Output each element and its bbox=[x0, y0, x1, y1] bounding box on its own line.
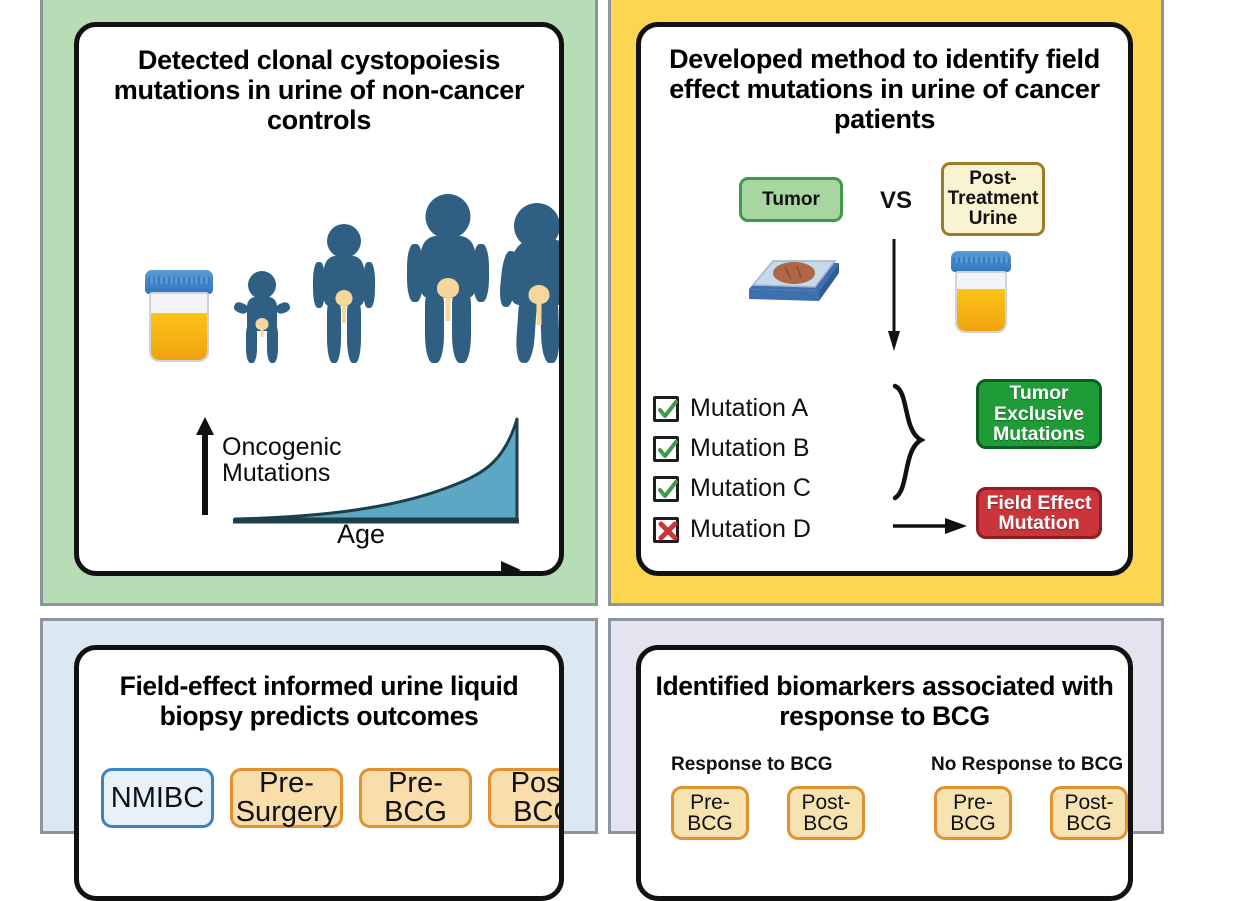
panel-bcg-response-biomarkers: Identified biomarkers associated with re… bbox=[608, 618, 1164, 834]
panel-2-title: Developed method to identify field effec… bbox=[655, 44, 1114, 135]
mutation-row: Mutation A bbox=[653, 394, 808, 423]
checkbox-checked-icon bbox=[653, 476, 679, 502]
panel-3-card: Field-effect informed urine liquid biops… bbox=[74, 645, 564, 901]
x-axis-arrow-icon bbox=[245, 561, 521, 576]
panel-4-title: Identified biomarkers associated with re… bbox=[655, 672, 1114, 731]
checkbox-cross-icon bbox=[653, 517, 679, 543]
chip-pre-surgery[interactable]: Pre-Surgery bbox=[230, 768, 343, 828]
mutation-label: Mutation D bbox=[690, 515, 811, 544]
panel-3-title: Field-effect informed urine liquid biops… bbox=[93, 672, 545, 731]
oncogenic-mutations-vs-age-chart: Oncogenic Mutations Age bbox=[187, 413, 564, 576]
post-treatment-urine-tag: Post-Treatment Urine bbox=[941, 162, 1045, 236]
chip-no-response-post-bcg[interactable]: Post-BCG bbox=[1050, 786, 1128, 840]
panel-2-card: Developed method to identify field effec… bbox=[636, 22, 1133, 576]
arrow-down-icon bbox=[888, 239, 900, 351]
elderly-figure-with-cane-icon bbox=[497, 203, 564, 363]
chip-no-response-pre-bcg[interactable]: Pre-BCG bbox=[934, 786, 1012, 840]
timepoint-chip-row: NMIBC Pre-Surgery Pre-BCG Post-BCG bbox=[101, 768, 564, 828]
panel-4-card: Identified biomarkers associated with re… bbox=[636, 645, 1133, 901]
arrow-right-icon bbox=[893, 517, 967, 535]
mutation-row: Mutation B bbox=[653, 434, 810, 463]
urine-cup-icon bbox=[951, 251, 1011, 333]
mutation-label: Mutation A bbox=[690, 394, 808, 423]
vs-label: VS bbox=[873, 187, 919, 215]
response-chip-row: Pre-BCG Post-BCG bbox=[671, 786, 865, 840]
group-label-no-response: No Response to BCG bbox=[931, 754, 1123, 776]
panel-clonal-cystopoiesis: Detected clonal cystopoiesis mutations i… bbox=[40, 0, 598, 606]
chip-response-post-bcg[interactable]: Post-BCG bbox=[787, 786, 865, 840]
young-adult-figure-icon bbox=[311, 224, 377, 363]
tumor-tag: Tumor bbox=[739, 177, 843, 222]
tissue-slide-icon bbox=[741, 249, 847, 313]
chip-post-bcg[interactable]: Post-BCG bbox=[488, 768, 564, 828]
no-response-chip-row: Pre-BCG Post-BCG bbox=[934, 786, 1128, 840]
chart-ylabel: Oncogenic Mutations bbox=[222, 435, 382, 486]
panel-1-card: Detected clonal cystopoiesis mutations i… bbox=[74, 22, 564, 576]
panel-field-effect-method: Developed method to identify field effec… bbox=[608, 0, 1164, 606]
curly-brace-icon bbox=[891, 382, 933, 502]
mutation-label: Mutation C bbox=[690, 474, 811, 503]
panel-1-title: Detected clonal cystopoiesis mutations i… bbox=[105, 45, 533, 136]
panel-liquid-biopsy-outcomes: Field-effect informed urine liquid biops… bbox=[40, 618, 598, 834]
field-effect-mutation-tag: Field Effect Mutation bbox=[976, 487, 1102, 539]
mutation-label: Mutation B bbox=[690, 434, 810, 463]
y-axis-arrow-icon bbox=[196, 417, 214, 515]
checkbox-checked-icon bbox=[653, 396, 679, 422]
checkbox-checked-icon bbox=[653, 436, 679, 462]
adult-figure-icon bbox=[404, 194, 492, 363]
urine-cup-icon bbox=[145, 270, 213, 362]
group-label-response: Response to BCG bbox=[671, 754, 833, 776]
mutation-row: Mutation C bbox=[653, 474, 811, 503]
chart-xlabel: Age bbox=[337, 521, 385, 549]
tumor-exclusive-mutations-tag: Tumor Exclusive Mutations bbox=[976, 379, 1102, 449]
chip-nmibc[interactable]: NMIBC bbox=[101, 768, 214, 828]
child-figure-icon bbox=[234, 271, 290, 363]
mutation-row: Mutation D bbox=[653, 515, 811, 544]
chip-response-pre-bcg[interactable]: Pre-BCG bbox=[671, 786, 749, 840]
chip-pre-bcg[interactable]: Pre-BCG bbox=[359, 768, 472, 828]
